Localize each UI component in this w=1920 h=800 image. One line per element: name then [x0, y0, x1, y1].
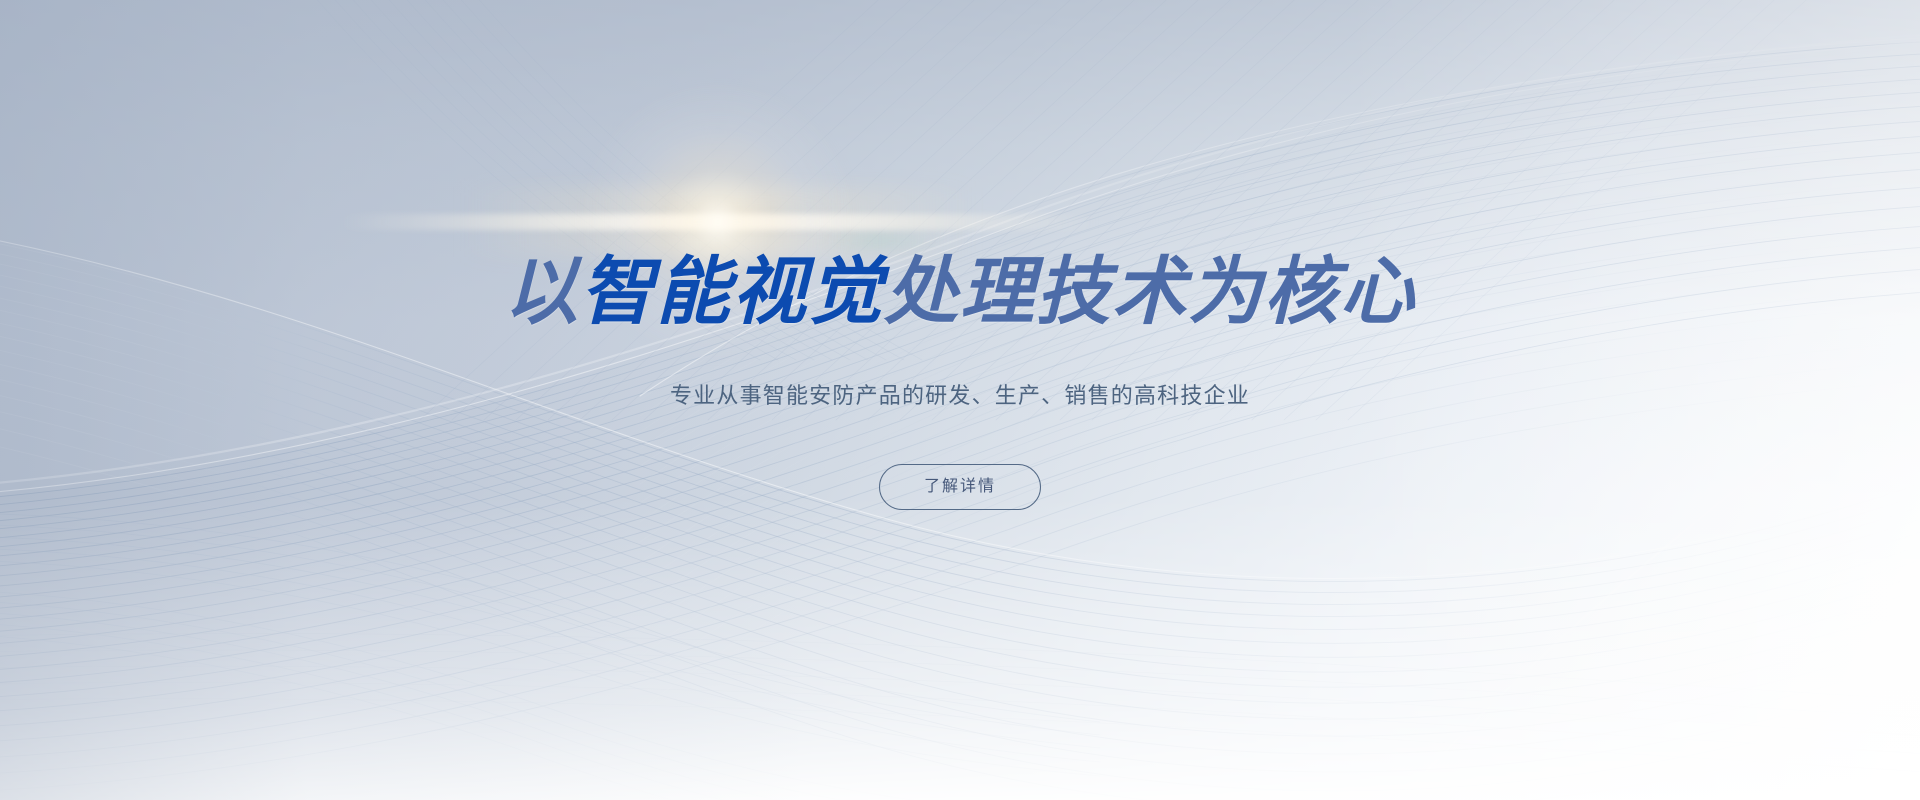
cta-container: 了解详情 [0, 464, 1920, 510]
learn-more-button[interactable]: 了解详情 [879, 464, 1041, 510]
page-title: 以智能视觉处理技术为核心 [0, 255, 1920, 329]
page-subtitle: 专业从事智能安防产品的研发、生产、销售的高科技企业 [0, 381, 1920, 412]
headline-segment-1: 以 [504, 249, 580, 335]
hero-banner: 以智能视觉处理技术为核心 专业从事智能安防产品的研发、生产、销售的高科技企业 了… [0, 0, 1920, 800]
headline-segment-emphasis: 智能视觉 [580, 249, 884, 335]
hero-content: 以智能视觉处理技术为核心 专业从事智能安防产品的研发、生产、销售的高科技企业 了… [0, 255, 1920, 510]
headline-segment-3: 处理技术为核心 [884, 249, 1416, 335]
